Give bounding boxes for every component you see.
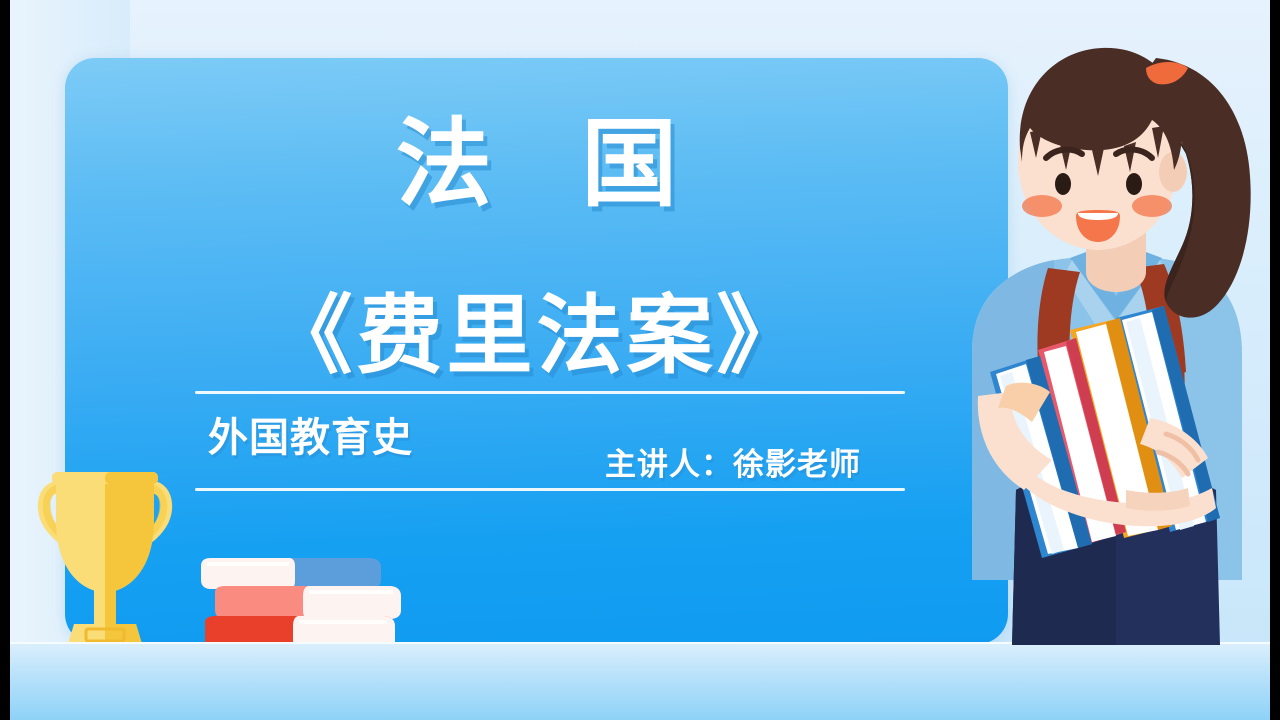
letterbox-bar-right xyxy=(1270,0,1280,720)
floor-strip xyxy=(10,642,1270,720)
student-illustration xyxy=(920,20,1260,645)
trophy-icon xyxy=(30,462,180,657)
book-stack-icon xyxy=(193,556,408,654)
slide-stage: 法 国 《费里法案》 外国教育史 主讲人：徐影老师 xyxy=(0,0,1280,720)
letterbox-bar-left xyxy=(0,0,10,720)
slide-background: 法 国 《费里法案》 外国教育史 主讲人：徐影老师 xyxy=(10,0,1270,720)
